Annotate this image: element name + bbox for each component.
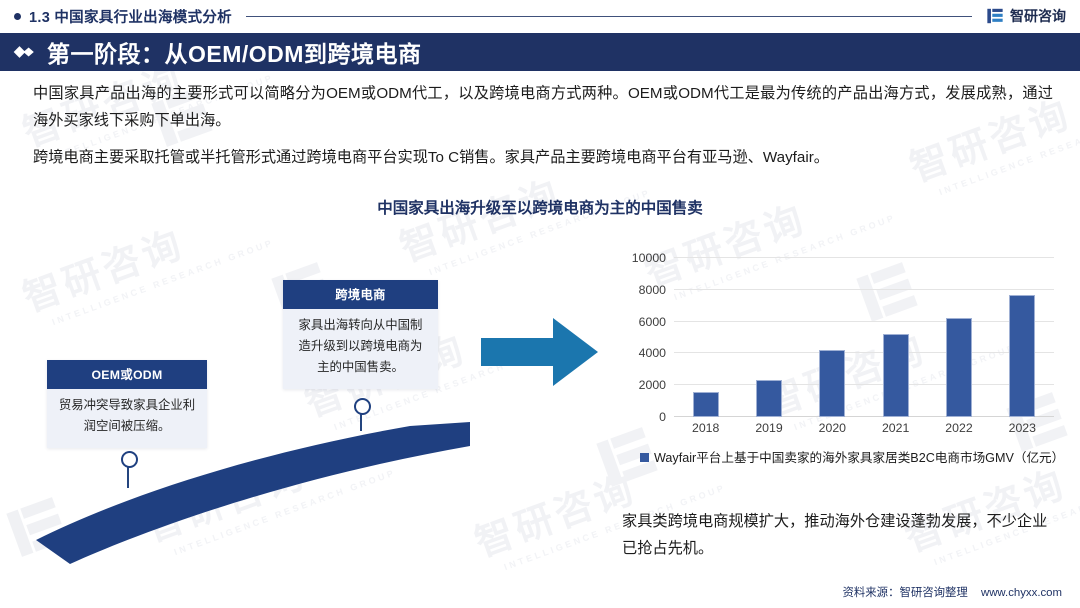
chart-x-tick-label: 2023: [991, 421, 1054, 441]
chart-bar-column: [864, 258, 927, 417]
chart-bar-column: [991, 258, 1054, 417]
chart-y-axis: 0200040006000800010000: [622, 258, 666, 417]
body-paragraphs: 中国家具产品出海的主要形式可以简略分为OEM或ODM代工，以及跨境电商方式两种。…: [33, 80, 1053, 171]
card-oem-body: 贸易冲突导致家具企业利润空间被压缩。: [47, 389, 207, 448]
bar-chart: 0200040006000800010000 20182019202020212…: [622, 250, 1060, 445]
source-label: 资料来源：智研咨询整理: [843, 587, 968, 599]
chart-bars: [674, 258, 1054, 417]
chart-x-tick-label: 2019: [737, 421, 800, 441]
brand-name: 智研咨询: [1010, 6, 1066, 26]
bullet-dot-icon: [14, 13, 21, 20]
paragraph-2: 跨境电商主要采取托管或半托管形式通过跨境电商平台实现To C销售。家具产品主要跨…: [33, 144, 1053, 171]
chart-x-tick-label: 2018: [674, 421, 737, 441]
chart-bar: [819, 350, 845, 417]
chart-bar: [1009, 295, 1035, 417]
page-header: 1.3 中国家具行业出海模式分析 智研咨询: [0, 0, 1080, 32]
card-cbe-title: 跨境电商: [283, 280, 438, 309]
card-oem-title: OEM或ODM: [47, 360, 207, 389]
timeline-node-icon: [354, 398, 371, 415]
chart-y-tick-label: 4000: [639, 346, 666, 360]
infographic: OEM或ODM 贸易冲突导致家具企业利润空间被压缩。 跨境电商 家具出海转向从中…: [0, 230, 600, 570]
chart-x-tick-label: 2020: [801, 421, 864, 441]
section-band-title: 第一阶段：从OEM/ODM到跨境电商: [47, 35, 421, 69]
chart-x-tick-label: 2022: [927, 421, 990, 441]
chart-plot-area: [674, 258, 1054, 417]
chart-y-tick-label: 2000: [639, 378, 666, 392]
double-diamond-icon: [13, 45, 39, 59]
chart-bar-column: [801, 258, 864, 417]
header-divider: [246, 16, 972, 17]
chart-bar-column: [737, 258, 800, 417]
source-footer: 资料来源：智研咨询整理 www.chyxx.com: [843, 584, 1063, 600]
legend-swatch-icon: [640, 453, 649, 462]
section-band: 第一阶段：从OEM/ODM到跨境电商: [0, 33, 1080, 71]
chart-bar-column: [674, 258, 737, 417]
figure-title: 中国家具出海升级至以跨境电商为主的中国售卖: [0, 196, 1080, 218]
brand: 智研咨询: [986, 6, 1066, 26]
paragraph-1: 中国家具产品出海的主要形式可以简略分为OEM或ODM代工，以及跨境电商方式两种。…: [33, 80, 1053, 134]
timeline-node-icon: [121, 451, 138, 468]
chart-bar: [756, 380, 782, 417]
source-url[interactable]: www.chyxx.com: [981, 587, 1062, 599]
legend-label: Wayfair平台上基于中国卖家的海外家具家居类B2C电商市场GMV（亿元）: [654, 448, 1060, 468]
card-cbe-body: 家具出海转向从中国制造升级到以跨境电商为主的中国售卖。: [283, 309, 438, 389]
chart-x-tick-label: 2021: [864, 421, 927, 441]
chart-y-tick-label: 8000: [639, 283, 666, 297]
chart-y-tick-label: 10000: [632, 251, 666, 265]
chart-bar: [693, 392, 719, 417]
chart-bar: [883, 334, 909, 417]
chart-legend: Wayfair平台上基于中国卖家的海外家具家居类B2C电商市场GMV（亿元）: [640, 448, 1060, 468]
card-oem: OEM或ODM 贸易冲突导致家具企业利润空间被压缩。: [47, 360, 207, 448]
chart-bar: [946, 318, 972, 417]
page-title: 1.3 中国家具行业出海模式分析: [29, 6, 232, 27]
card-cross-border-ecommerce: 跨境电商 家具出海转向从中国制造升级到以跨境电商为主的中国售卖。: [283, 280, 438, 389]
zhiyan-logo-icon: [986, 7, 1004, 25]
figure-note: 家具类跨境电商规模扩大，推动海外仓建设蓬勃发展，不少企业已抢占先机。: [622, 508, 1052, 562]
chart-bar-column: [927, 258, 990, 417]
chart-y-tick-label: 6000: [639, 315, 666, 329]
chart-x-axis: 201820192020202120222023: [674, 421, 1054, 441]
right-arrow-icon: [481, 316, 599, 388]
chart-y-tick-label: 0: [659, 410, 666, 424]
